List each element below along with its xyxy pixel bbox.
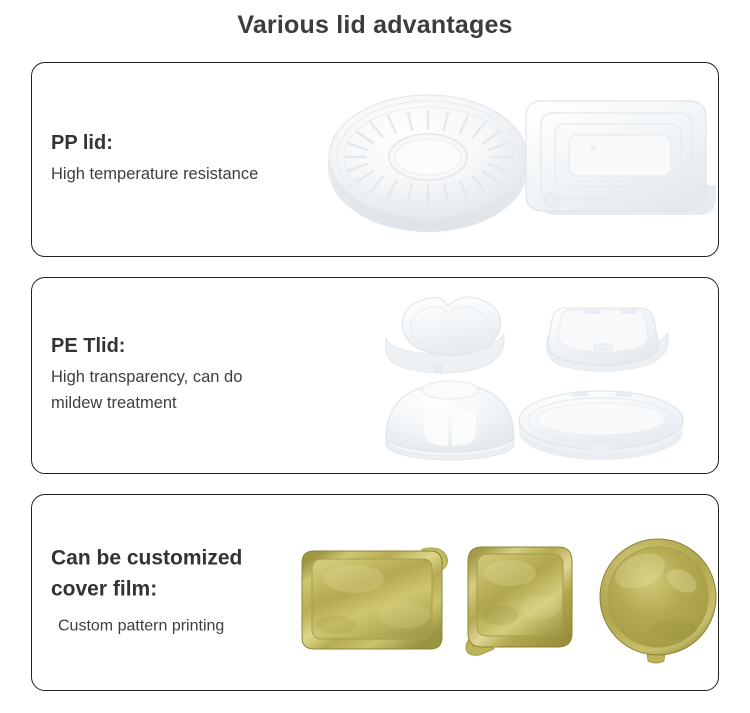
card-pp-lid: PP lid: High temperature resistance: [31, 62, 719, 257]
card-pp-lid-text: PP lid: High temperature resistance: [51, 131, 311, 187]
rectangular-pp-lid-image: [520, 83, 730, 233]
card-pe-lid-subtitle-line2: mildew treatment: [51, 391, 311, 417]
card-pp-lid-subtitle: High temperature resistance: [51, 162, 311, 188]
page-title: Various lid advantages: [0, 11, 750, 40]
card-pe-lid-text: PE Tlid: High transparency, can do milde…: [51, 335, 311, 417]
round-gold-foil-lid-image: [594, 537, 724, 665]
card-pp-lid-heading: PP lid:: [51, 131, 311, 155]
card-pe-lid-images: [302, 278, 712, 473]
square-gold-foil-lid-image: [460, 541, 590, 661]
heart-shaped-pe-lid-image: [378, 290, 518, 380]
card-pe-lid: PE Tlid: High transparency, can do milde…: [31, 277, 719, 474]
oval-flat-pe-lid-image: [516, 382, 686, 464]
card-cover-film-images: [302, 495, 712, 690]
card-pp-lid-images: [302, 63, 712, 256]
rectangular-gold-foil-lid-image: [298, 543, 466, 657]
card-pe-lid-heading: PE Tlid:: [51, 335, 311, 359]
square-dome-pe-lid-image: [538, 288, 678, 380]
card-pe-lid-subtitle-line1: High transparency, can do: [51, 365, 311, 391]
round-dome-pe-lid-image: [380, 378, 520, 464]
round-ribbed-pp-lid-image: [324, 85, 540, 237]
card-cover-film: Can be customized cover film: Custom pat…: [31, 494, 719, 691]
